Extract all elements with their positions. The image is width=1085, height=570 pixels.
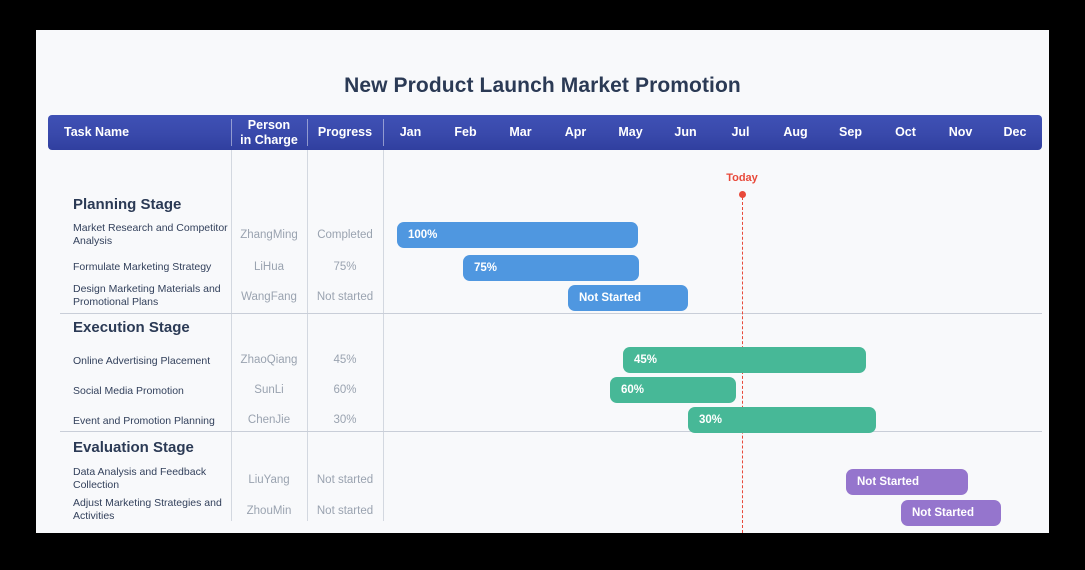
task-progress-event-promotion: 30% [307, 414, 383, 426]
column-header-month-aug[interactable]: Aug [768, 115, 823, 150]
gantt-bar-event-promotion[interactable]: 30% [688, 407, 876, 433]
task-person-adjust-strategies: ZhouMin [231, 505, 307, 517]
stage-label-planning: Planning Stage [73, 196, 181, 213]
task-person-formulate-strategy: LiHua [231, 261, 307, 273]
column-header-month-dec[interactable]: Dec [988, 115, 1042, 150]
column-header-month-jan[interactable]: Jan [383, 115, 438, 150]
task-progress-online-advertising: 45% [307, 354, 383, 366]
column-header-month-jul[interactable]: Jul [713, 115, 768, 150]
task-progress-social-media: 60% [307, 384, 383, 396]
task-name-data-analysis: Data Analysis and Feedback Collection [73, 466, 253, 492]
gantt-chart-panel: New Product Launch Market Promotion Task… [36, 30, 1049, 533]
table-header-row: Task Name Person in Charge Progress Jan … [48, 115, 1042, 150]
group-divider-planning [60, 313, 1042, 314]
task-name-design-materials: Design Marketing Materials and Promotion… [73, 283, 253, 309]
stage-label-evaluation: Evaluation Stage [73, 439, 194, 456]
column-header-month-mar[interactable]: Mar [493, 115, 548, 150]
gantt-grid: Today Planning Stage Market Research and… [48, 150, 1042, 533]
task-name-formulate-strategy: Formulate Marketing Strategy [73, 261, 253, 274]
task-progress-market-research: Completed [307, 229, 383, 241]
column-header-person-in-charge[interactable]: Person in Charge [231, 115, 307, 150]
today-label: Today [726, 172, 758, 184]
gantt-bar-online-advertising[interactable]: 45% [623, 347, 866, 373]
task-name-online-advertising: Online Advertising Placement [73, 355, 253, 368]
task-person-online-advertising: ZhaoQiang [231, 354, 307, 366]
column-header-person-line2: in Charge [240, 133, 298, 147]
column-header-progress[interactable]: Progress [307, 115, 383, 150]
column-divider-progress [383, 150, 384, 521]
gantt-bar-formulate-strategy[interactable]: 75% [463, 255, 639, 281]
task-name-market-research: Market Research and Competitor Analysis [73, 222, 253, 248]
task-person-social-media: SunLi [231, 384, 307, 396]
column-header-task-name[interactable]: Task Name [48, 115, 231, 150]
task-person-market-research: ZhangMing [231, 229, 307, 241]
column-header-month-oct[interactable]: Oct [878, 115, 933, 150]
column-header-person-line1: Person [248, 118, 290, 132]
column-header-month-nov[interactable]: Nov [933, 115, 988, 150]
gantt-bar-market-research[interactable]: 100% [397, 222, 638, 248]
screenshot-canvas: New Product Launch Market Promotion Task… [0, 0, 1085, 570]
gantt-bar-design-materials[interactable]: Not Started [568, 285, 688, 311]
column-header-month-apr[interactable]: Apr [548, 115, 603, 150]
column-header-month-sep[interactable]: Sep [823, 115, 878, 150]
task-name-adjust-strategies: Adjust Marketing Strategies and Activiti… [73, 497, 253, 523]
column-header-month-jun[interactable]: Jun [658, 115, 713, 150]
gantt-bar-adjust-strategies[interactable]: Not Started [901, 500, 1001, 526]
column-header-month-feb[interactable]: Feb [438, 115, 493, 150]
stage-label-execution: Execution Stage [73, 319, 190, 336]
page-title: New Product Launch Market Promotion [36, 74, 1049, 98]
task-progress-data-analysis: Not started [307, 474, 383, 486]
task-person-data-analysis: LiuYang [231, 474, 307, 486]
column-divider-person [307, 150, 308, 521]
gantt-bar-social-media[interactable]: 60% [610, 377, 736, 403]
task-progress-design-materials: Not started [307, 291, 383, 303]
task-progress-formulate-strategy: 75% [307, 261, 383, 273]
gantt-bar-data-analysis[interactable]: Not Started [846, 469, 968, 495]
task-progress-adjust-strategies: Not started [307, 505, 383, 517]
task-name-event-promotion: Event and Promotion Planning [73, 415, 253, 428]
task-person-design-materials: WangFang [231, 291, 307, 303]
task-person-event-promotion: ChenJie [231, 414, 307, 426]
task-name-social-media: Social Media Promotion [73, 385, 253, 398]
group-divider-execution [60, 431, 1042, 432]
column-header-month-may[interactable]: May [603, 115, 658, 150]
